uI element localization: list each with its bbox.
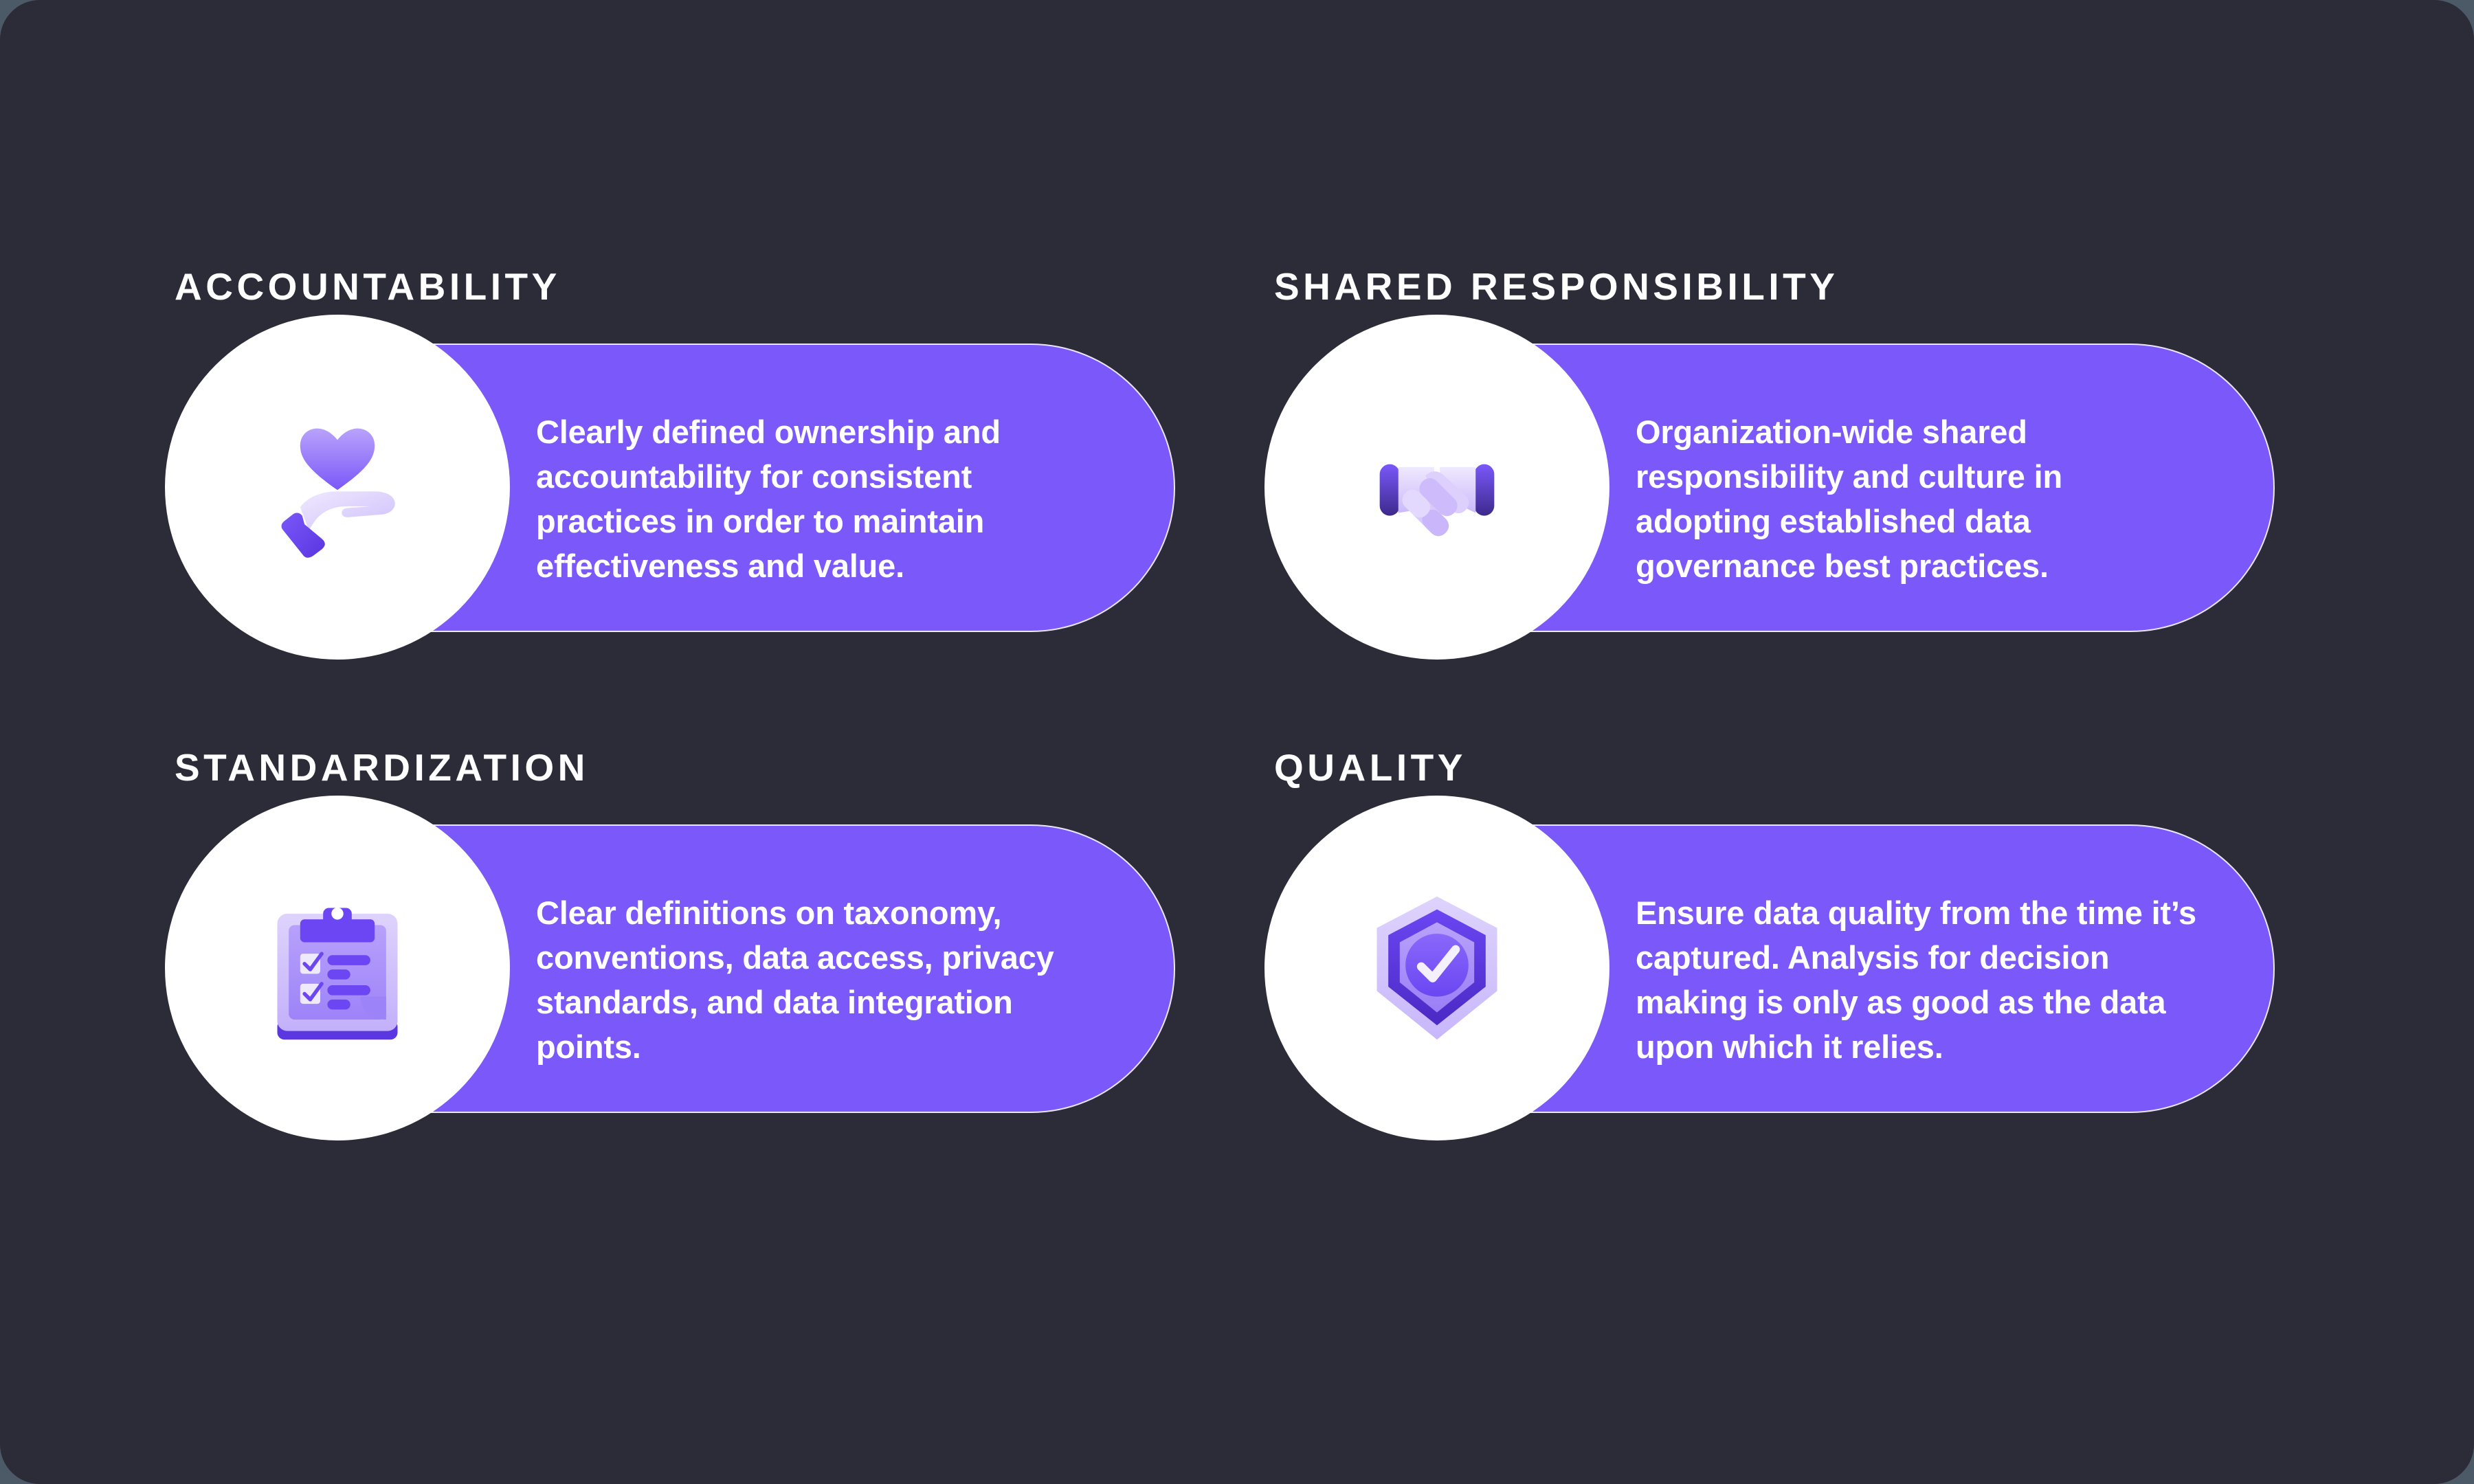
card-body-text: Ensure data quality from the time it’s c… — [1636, 891, 2206, 1069]
principles-grid: ACCOUNTABILITY — [172, 268, 2309, 1223]
principle-card-accountability: ACCOUNTABILITY — [172, 268, 1210, 749]
icon-circle — [165, 315, 510, 660]
card-body-text: Clearly defined ownership and accountabi… — [536, 410, 1106, 588]
principle-card-quality: QUALITY — [1271, 749, 2309, 1230]
card-pill: Ensure data quality from the time it’s c… — [1271, 824, 2275, 1113]
card-pill: Clear definitions on taxonomy, conventio… — [172, 824, 1175, 1113]
card-heading: STANDARDIZATION — [175, 749, 589, 787]
icon-circle — [165, 796, 510, 1140]
principle-card-shared-responsibility: SHARED RESPONSIBILITY — [1271, 268, 2309, 749]
card-pill: Organization-wide shared responsibility … — [1271, 344, 2275, 632]
principle-card-standardization: STANDARDIZATION — [172, 749, 1210, 1230]
icon-circle — [1264, 315, 1609, 660]
handshake-icon — [1351, 401, 1523, 573]
icon-circle — [1264, 796, 1609, 1140]
clipboard-checklist-icon — [252, 882, 423, 1054]
card-body-text: Clear definitions on taxonomy, conventio… — [536, 891, 1106, 1069]
card-body-text: Organization-wide shared responsibility … — [1636, 410, 2206, 588]
shield-check-icon — [1351, 882, 1523, 1054]
card-heading: SHARED RESPONSIBILITY — [1274, 268, 1838, 306]
heart-in-hand-icon — [252, 401, 423, 573]
card-pill: Clearly defined ownership and accountabi… — [172, 344, 1175, 632]
card-heading: ACCOUNTABILITY — [175, 268, 561, 306]
card-heading: QUALITY — [1274, 749, 1467, 787]
infographic-panel: ACCOUNTABILITY — [0, 0, 2474, 1484]
